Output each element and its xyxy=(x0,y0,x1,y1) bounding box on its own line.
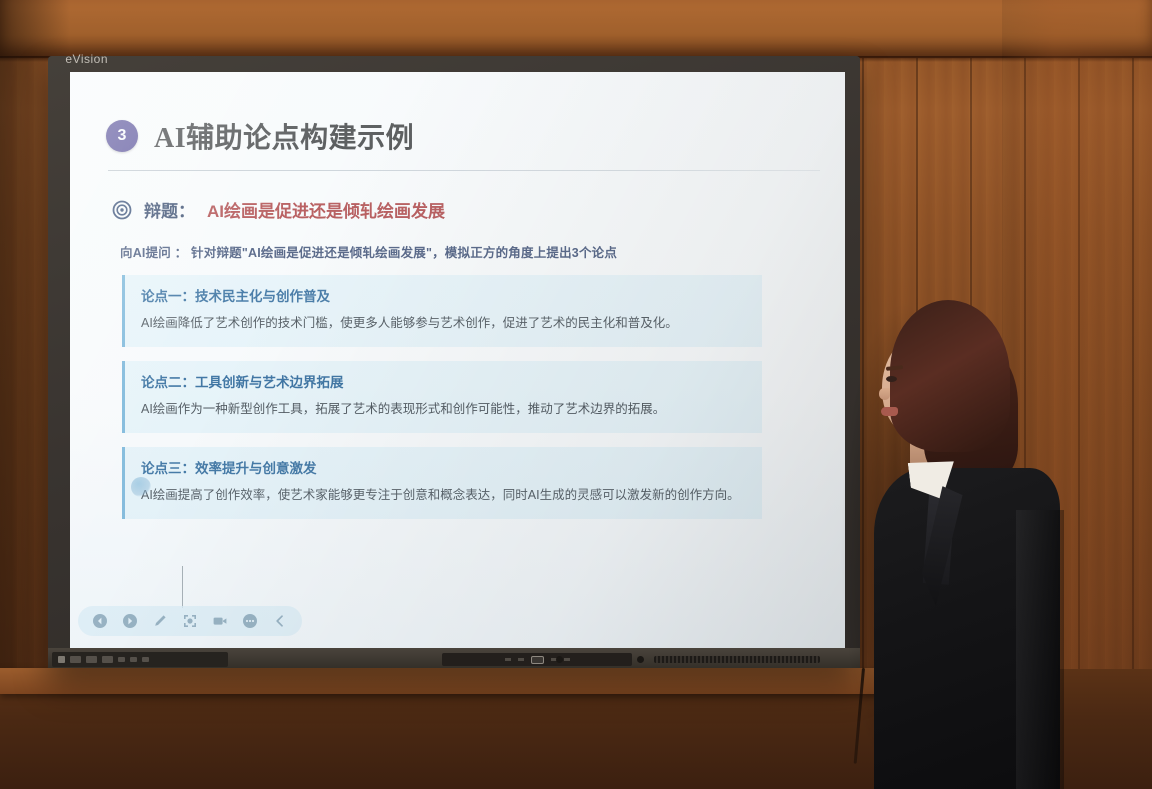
display-port-panel xyxy=(52,652,228,667)
presenter-eye xyxy=(886,376,897,382)
spotlight-icon[interactable] xyxy=(182,613,198,629)
port-logo-icon xyxy=(58,656,65,663)
presentation-slide[interactable]: 3 AI辅助论点构建示例 辩题： AI绘画是促进还是倾轧绘画发展 xyxy=(70,72,845,648)
wall-soffit xyxy=(0,0,1152,58)
display-mount-strip xyxy=(0,668,900,694)
debate-topic-text: AI绘画是促进还是倾轧绘画发展 xyxy=(207,197,445,222)
presenter-hair xyxy=(890,300,1010,452)
interactive-flat-panel-display: eVision 3 AI辅助论点构建示例 xyxy=(48,56,860,668)
camera-icon[interactable] xyxy=(212,613,228,629)
slide-toolbar[interactable] xyxy=(78,606,302,636)
presenter-nose xyxy=(879,388,890,400)
ellipsis-circle-icon[interactable] xyxy=(242,613,258,629)
argument-card: 论点二：工具创新与艺术边界拓展 AI绘画作为一种新型创作工具，拓展了艺术的表现形… xyxy=(122,361,762,433)
argument-card-heading: 论点二：工具创新与艺术边界拓展 xyxy=(141,371,746,391)
target-icon xyxy=(112,200,132,220)
display-lower-bezel xyxy=(48,648,860,668)
argument-card-body: AI绘画降低了艺术创作的技术门槛，使更多人能够参与艺术创作，促进了艺术的民主化和… xyxy=(141,313,746,335)
display-speaker-grille xyxy=(654,656,820,663)
power-button[interactable] xyxy=(531,656,544,664)
page-title: AI辅助论点构建示例 xyxy=(154,116,414,156)
pen-icon[interactable] xyxy=(152,613,168,629)
text-cursor xyxy=(182,566,183,608)
port xyxy=(86,656,97,663)
argument-card-body: AI绘画作为一种新型创作工具，拓展了艺术的表现形式和创作可能性，推动了艺术边界的… xyxy=(141,399,746,421)
play-circle-icon[interactable] xyxy=(122,613,138,629)
control-indicator xyxy=(505,658,511,661)
argument-card: 论点一：技术民主化与创作普及 AI绘画降低了艺术创作的技术门槛，使更多人能够参与… xyxy=(122,275,762,347)
presenter xyxy=(866,300,1096,789)
section-number-badge: 3 xyxy=(106,120,138,152)
ai-prompt-line: 向AI提问 ： 针对辩题"AI绘画是促进还是倾轧绘画发展"，模拟正方的角度上提出… xyxy=(120,242,811,261)
port xyxy=(142,657,149,662)
bezel-sensor-icon xyxy=(637,656,644,663)
control-indicator xyxy=(518,658,524,661)
debate-topic-row: 辩题： AI绘画是促进还是倾轧绘画发展 xyxy=(106,197,811,222)
argument-card-heading: 论点三：效率提升与创意激发 xyxy=(141,457,746,477)
cursor-watermark-icon xyxy=(131,477,151,497)
presenter-arm-shading xyxy=(1016,510,1064,789)
slide-title-row: 3 AI辅助论点构建示例 xyxy=(106,116,811,156)
chevron-left-icon[interactable] xyxy=(272,613,288,629)
meeting-room-scene: eVision 3 AI辅助论点构建示例 xyxy=(0,0,1152,789)
display-brand-label: eVision xyxy=(0,48,108,70)
port xyxy=(70,656,81,663)
control-indicator xyxy=(564,658,570,661)
bezel-microphone-icon xyxy=(556,656,563,663)
argument-card-body: AI绘画提高了创作效率，使艺术家能够更专注于创意和概念表达，同时AI生成的灵感可… xyxy=(141,485,746,507)
presenter-lips xyxy=(881,407,898,416)
argument-card-heading: 论点一：技术民主化与创作普及 xyxy=(141,285,746,305)
title-divider xyxy=(108,170,820,171)
display-screen[interactable]: 3 AI辅助论点构建示例 辩题： AI绘画是促进还是倾轧绘画发展 xyxy=(70,72,845,648)
argument-card: 论点三：效率提升与创意激发 AI绘画提高了创作效率，使艺术家能够更专注于创意和概… xyxy=(122,447,762,519)
port xyxy=(118,657,125,662)
port xyxy=(130,657,137,662)
chevron-left-circle-icon[interactable] xyxy=(92,613,108,629)
port xyxy=(102,656,113,663)
argument-card-list: 论点一：技术民主化与创作普及 AI绘画降低了艺术创作的技术门槛，使更多人能够参与… xyxy=(122,275,811,519)
display-control-panel[interactable] xyxy=(442,653,632,666)
debate-topic-label: 辩题： xyxy=(144,197,195,222)
